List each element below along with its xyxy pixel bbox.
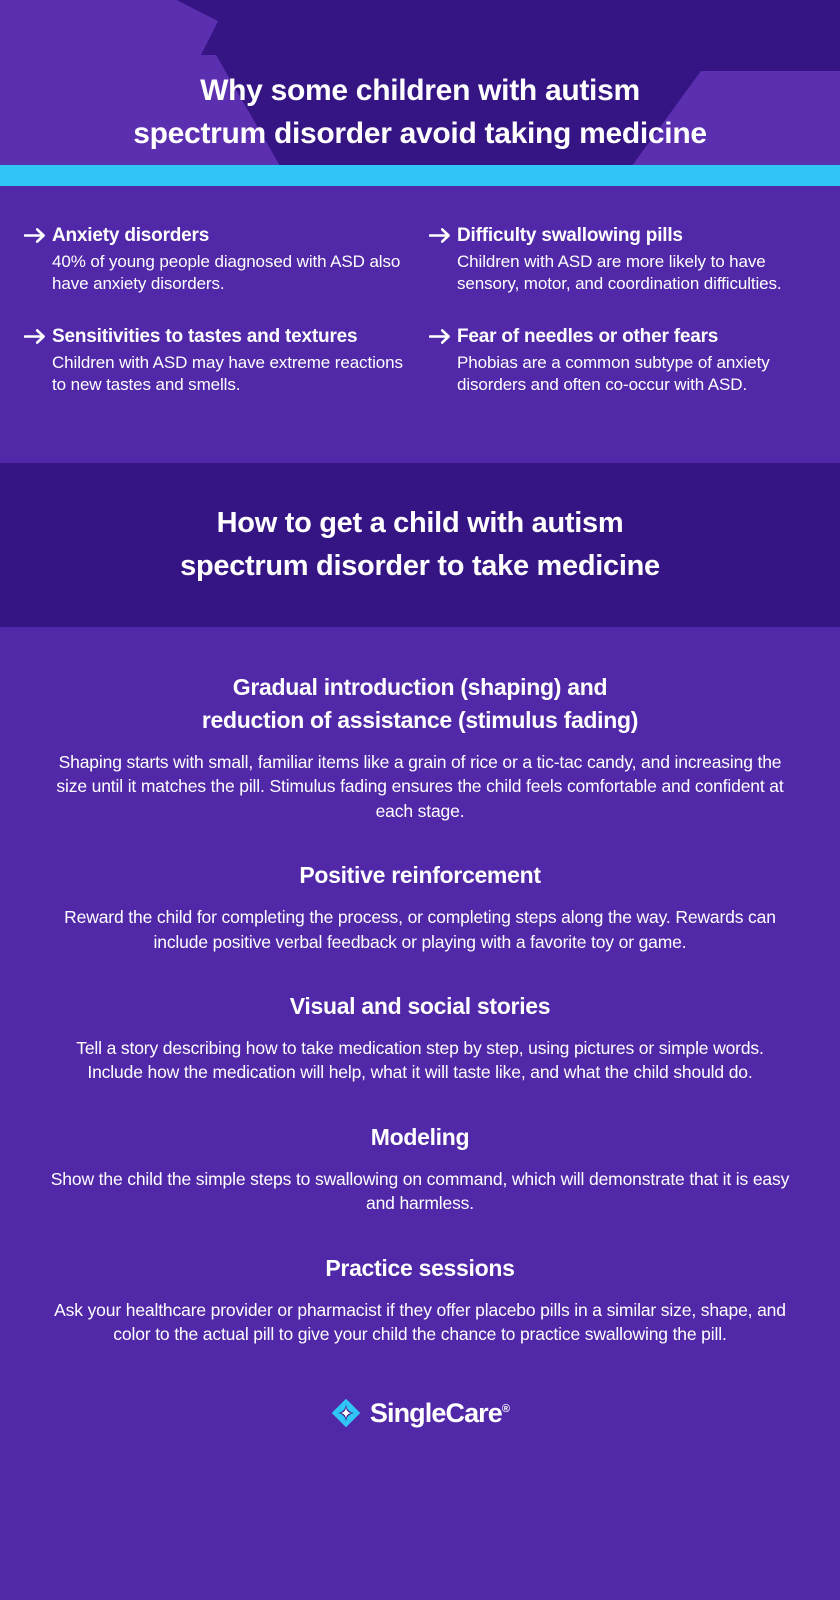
method-title-line: Gradual introduction (shaping) and — [45, 671, 795, 704]
method-description: Shaping starts with small, familiar item… — [45, 750, 795, 822]
method-title: Positive reinforcement — [45, 859, 795, 892]
reason-description: Phobias are a common subtype of anxiety … — [457, 352, 816, 397]
method-title: Gradual introduction (shaping) and reduc… — [45, 671, 795, 736]
method-item: Practice sessions Ask your healthcare pr… — [45, 1252, 795, 1347]
page-title: Why some children with autism spectrum d… — [0, 38, 840, 155]
reasons-grid: Anxiety disorders 40% of young people di… — [24, 224, 816, 397]
method-title: Practice sessions — [45, 1252, 795, 1285]
method-title-line: Modeling — [45, 1121, 795, 1154]
method-title-line: Positive reinforcement — [45, 859, 795, 892]
reason-item: Sensitivities to tastes and textures Chi… — [24, 325, 411, 396]
brand-name: SingleCare — [370, 1398, 502, 1428]
method-title: Modeling — [45, 1121, 795, 1154]
method-description: Tell a story describing how to take medi… — [45, 1036, 795, 1084]
reason-item: Fear of needles or other fears Phobias a… — [429, 325, 816, 396]
method-item: Positive reinforcement Reward the child … — [45, 859, 795, 954]
reason-title-line: Fear of needles or other fears — [457, 326, 718, 347]
arrow-right-icon — [24, 328, 52, 345]
reason-title-line: Anxiety disorders — [52, 225, 209, 246]
method-title-line: reduction of assistance (stimulus fading… — [45, 704, 795, 737]
reason-description: Children with ASD are more likely to hav… — [457, 251, 816, 296]
footer: SingleCare® — [0, 1376, 840, 1468]
method-description: Ask your healthcare provider or pharmaci… — [45, 1298, 795, 1346]
section-2-title-line-1: How to get a child with autism — [180, 502, 660, 545]
singlecare-logo[interactable]: SingleCare® — [331, 1398, 509, 1428]
methods-section: Gradual introduction (shaping) and reduc… — [0, 627, 840, 1346]
reason-description: 40% of young people diagnosed with ASD a… — [52, 251, 411, 296]
reason-title-line: Sensitivities to tastes — [52, 326, 242, 347]
header-banner: Why some children with autism spectrum d… — [0, 0, 840, 165]
reason-title: Fear of needles or other fears — [457, 325, 816, 349]
method-title: Visual and social stories — [45, 990, 795, 1023]
reason-body: Sensitivities to tastes and textures Chi… — [52, 325, 411, 396]
reason-title-line: Difficulty swallowing pills — [457, 225, 683, 246]
reason-item: Anxiety disorders 40% of young people di… — [24, 224, 411, 295]
registered-trademark: ® — [502, 1403, 509, 1415]
method-item: Modeling Show the child the simple steps… — [45, 1121, 795, 1216]
singlecare-mark-icon — [331, 1398, 361, 1428]
page-title-line-1: Why some children with autism — [60, 70, 780, 113]
section-2-title-line-2: spectrum disorder to take medicine — [180, 545, 660, 588]
section-2-header: How to get a child with autism spectrum … — [0, 463, 840, 627]
reason-title: Anxiety disorders — [52, 224, 411, 248]
reason-body: Difficulty swallowing pills Children wit… — [457, 224, 816, 295]
method-description: Show the child the simple steps to swall… — [45, 1167, 795, 1215]
reason-body: Fear of needles or other fears Phobias a… — [457, 325, 816, 396]
reason-title-line: and textures — [247, 326, 358, 347]
accent-divider-bar — [0, 165, 840, 186]
method-title-line: Practice sessions — [45, 1252, 795, 1285]
reason-body: Anxiety disorders 40% of young people di… — [52, 224, 411, 295]
reason-description: Children with ASD may have extreme react… — [52, 352, 411, 397]
singlecare-wordmark: SingleCare® — [370, 1400, 509, 1427]
method-description: Reward the child for completing the proc… — [45, 905, 795, 953]
arrow-right-icon — [429, 328, 457, 345]
reason-title: Sensitivities to tastes and textures — [52, 325, 411, 349]
method-title-line: Visual and social stories — [45, 990, 795, 1023]
method-item: Visual and social stories Tell a story d… — [45, 990, 795, 1085]
reason-item: Difficulty swallowing pills Children wit… — [429, 224, 816, 295]
page-title-line-2: spectrum disorder avoid taking medicine — [60, 113, 780, 156]
arrow-right-icon — [24, 227, 52, 244]
section-2-title: How to get a child with autism spectrum … — [180, 502, 660, 587]
infographic-page: Why some children with autism spectrum d… — [0, 0, 840, 1600]
method-item: Gradual introduction (shaping) and reduc… — [45, 671, 795, 823]
arrow-right-icon — [429, 227, 457, 244]
reason-title: Difficulty swallowing pills — [457, 224, 816, 248]
reasons-section: Anxiety disorders 40% of young people di… — [0, 186, 840, 463]
